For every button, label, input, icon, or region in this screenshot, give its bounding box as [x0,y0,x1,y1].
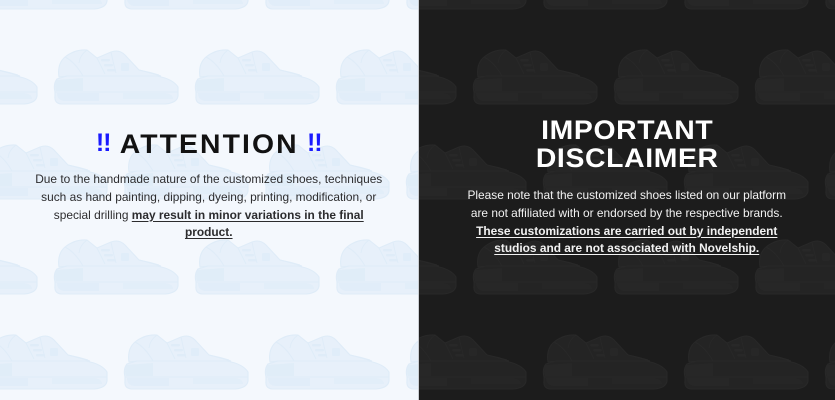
attention-heading-word: ATTENTION [119,130,298,158]
sneaker-pattern-row [418,322,835,400]
disclaimer-heading-line-2: DISCLAIMER [418,145,835,173]
disclaimer-heading-line-1: IMPORTANT [418,117,835,145]
attention-heading: !! ATTENTION !! [0,130,418,158]
sneaker-icon [679,322,820,400]
sneaker-pattern-row [0,322,418,400]
double-exclamation-left-icon: !! [96,130,111,156]
disclaimer-body-text: Please note that the customized shoes li… [419,172,835,258]
disclaimer-body-emphasis: These customizations are carried out by … [476,224,777,256]
sneaker-icon [0,322,119,400]
double-exclamation-right-icon: !! [307,130,322,156]
attention-content: !! ATTENTION !! Due to the handmade natu… [0,0,418,242]
sneaker-icon [418,322,538,400]
sneaker-icon [119,322,260,400]
customization-notice-banner: !! ATTENTION !! Due to the handmade natu… [0,0,835,400]
sneaker-icon [538,322,679,400]
disclaimer-content: IMPORTANT DISCLAIMER Please note that th… [419,0,835,258]
disclaimer-body-plain: Please note that the customized shoes li… [467,188,786,220]
disclaimer-heading: IMPORTANT DISCLAIMER [419,117,835,172]
sneaker-icon [820,322,835,400]
disclaimer-panel: IMPORTANT DISCLAIMER Please note that th… [418,0,835,400]
sneaker-icon [260,322,401,400]
attention-body-emphasis: may result in minor variations in the fi… [132,208,364,240]
attention-panel: !! ATTENTION !! Due to the handmade natu… [0,0,418,400]
sneaker-icon [401,322,418,400]
attention-body-text: Due to the handmade nature of the custom… [0,158,418,242]
